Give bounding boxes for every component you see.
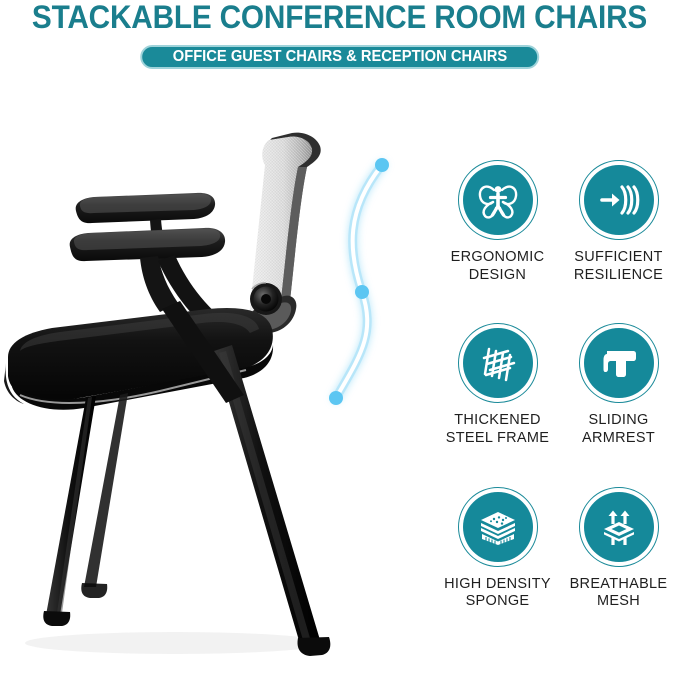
floor-shadow xyxy=(25,632,325,654)
feature-item-breathable-mesh: BREATHABLE MESH xyxy=(558,487,679,650)
feature-item-sliding-armrest: SLIDING ARMREST xyxy=(558,323,679,486)
feature-item-ergonomic-design: ERGONOMIC DESIGN xyxy=(437,160,558,323)
feature-label: HIGH DENSITY SPONGE xyxy=(444,576,551,611)
i-beam-armrest-icon xyxy=(584,328,654,398)
feature-grid: ERGONOMIC DESIGN SUFFICIENT RESILIENCE xyxy=(437,160,679,650)
steel-lattice-icon xyxy=(463,328,533,398)
pivot-knob xyxy=(250,283,282,315)
feature-item-sufficient-resilience: SUFFICIENT RESILIENCE xyxy=(558,160,679,323)
header-banner: STACKABLE CONFERENCE ROOM CHAIRS OFFICE … xyxy=(0,0,679,86)
feature-label: THICKENED STEEL FRAME xyxy=(446,412,549,447)
feature-icon-badge xyxy=(458,323,538,403)
feature-icon-badge xyxy=(458,487,538,567)
page-title: STACKABLE CONFERENCE ROOM CHAIRS xyxy=(24,0,655,37)
breathable-mesh-airflow-icon xyxy=(584,492,654,562)
subtitle-badge: OFFICE GUEST CHAIRS & RECEPTION CHAIRS xyxy=(140,45,540,69)
layered-sponge-icon xyxy=(463,492,533,562)
feature-icon-badge xyxy=(579,323,659,403)
feature-icon-badge xyxy=(579,487,659,567)
feature-label: SLIDING ARMREST xyxy=(582,412,655,447)
feature-label: SUFFICIENT RESILIENCE xyxy=(574,249,663,284)
feature-item-thickened-steel-frame: THICKENED STEEL FRAME xyxy=(437,323,558,486)
chair-illustration xyxy=(0,95,440,670)
feature-label: BREATHABLE MESH xyxy=(570,576,668,611)
feature-label: ERGONOMIC DESIGN xyxy=(451,249,545,284)
feature-item-high-density-sponge: HIGH DENSITY SPONGE xyxy=(437,487,558,650)
feature-icon-badge xyxy=(579,160,659,240)
resilience-arrow-icon xyxy=(584,165,654,235)
feature-icon-badge xyxy=(458,160,538,240)
product-image xyxy=(0,95,440,670)
subtitle-badge-label: OFFICE GUEST CHAIRS & RECEPTION CHAIRS xyxy=(172,48,506,66)
ergonomic-person-icon xyxy=(463,165,533,235)
